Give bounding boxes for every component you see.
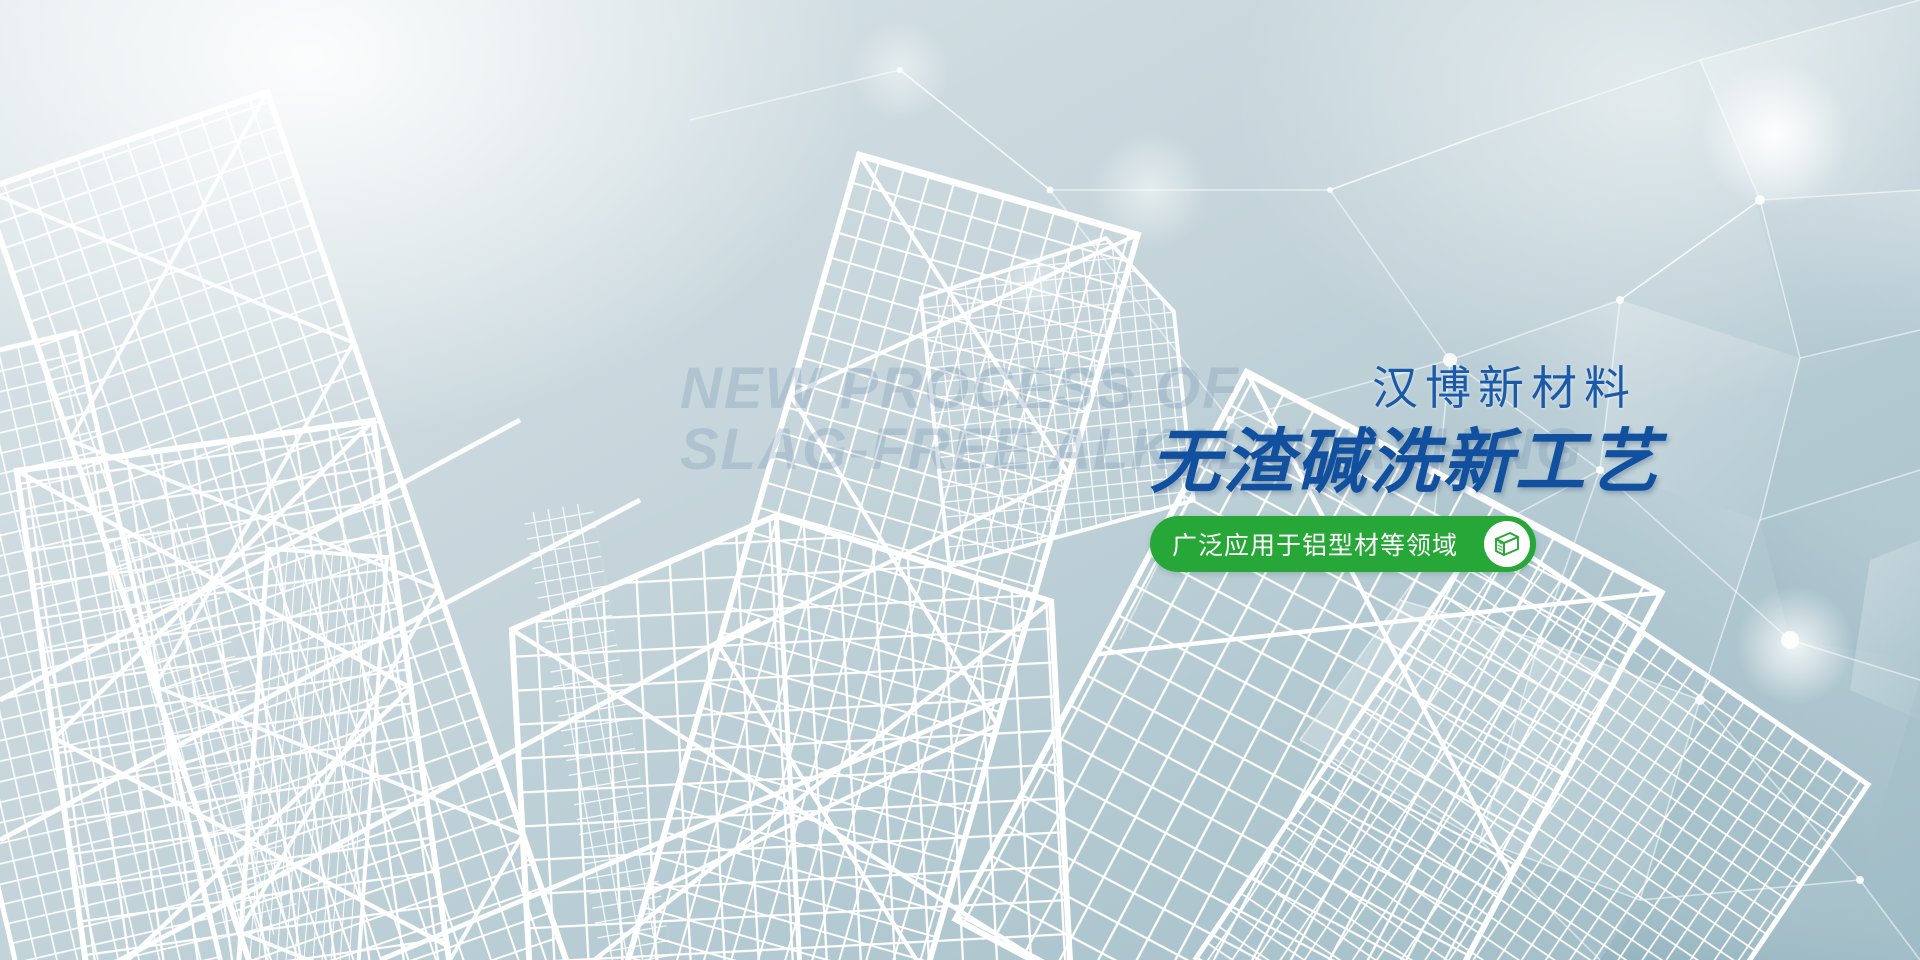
hero-copy-block: NEW PROCESS OF SLAG-FREE ALKALI WASHING … <box>1150 330 1790 630</box>
aluminium-profile-cube-icon <box>1484 521 1530 567</box>
hero-banner: NEW PROCESS OF SLAG-FREE ALKALI WASHING … <box>0 0 1920 960</box>
application-badge[interactable]: 广泛应用于铝型材等领域 <box>1150 516 1536 572</box>
page-title: 无渣碱洗新工艺 <box>1150 406 1661 507</box>
application-badge-label: 广泛应用于铝型材等领域 <box>1172 526 1458 562</box>
